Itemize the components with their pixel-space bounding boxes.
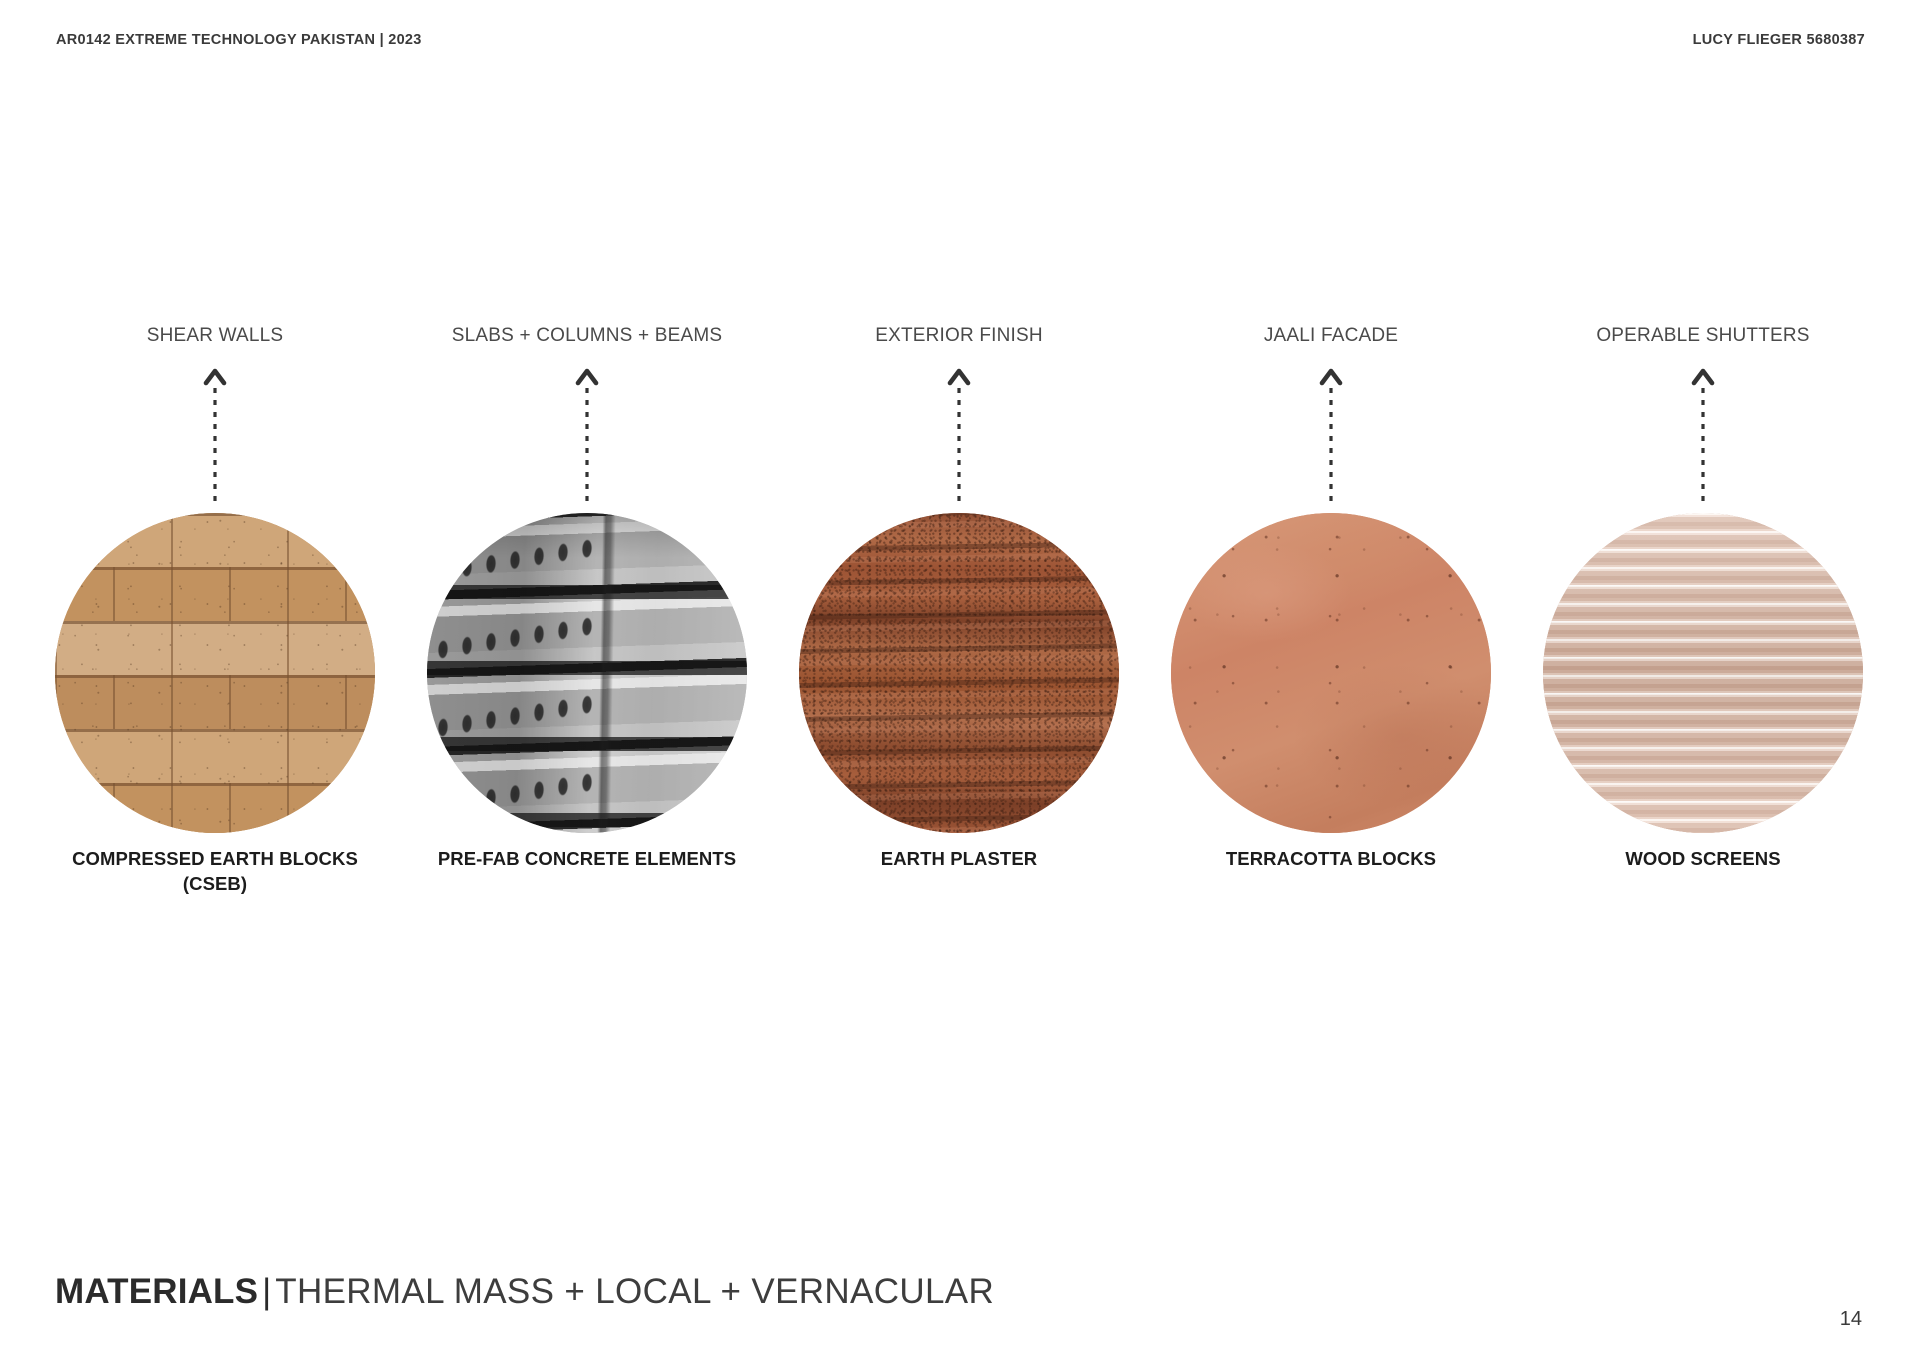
slide-header: AR0142 EXTREME TECHNOLOGY PAKISTAN | 202… [0, 32, 1920, 58]
material-name-line-1: WOOD SCREENS [1625, 848, 1780, 869]
material-item: OPERABLE SHUTTERS WOOD SCREENS [1523, 325, 1883, 905]
material-swatch [799, 513, 1119, 833]
page-title-separator: | [258, 1272, 275, 1311]
concrete-texture-swatch [427, 513, 747, 833]
material-item: JAALI FACADE TERRACOTTA BLOCKS [1151, 325, 1511, 905]
material-swatch [1171, 513, 1491, 833]
dashed-arrow-connector [1151, 363, 1511, 503]
material-name-line-1: PRE-FAB CONCRETE ELEMENTS [438, 848, 736, 869]
page-number: 14 [1840, 1308, 1862, 1331]
page-title-subtitle: THERMAL MASS + LOCAL + VERNACULAR [275, 1272, 994, 1311]
material-name-line-1: TERRACOTTA BLOCKS [1226, 848, 1436, 869]
material-function-label: OPERABLE SHUTTERS [1523, 325, 1883, 347]
material-caption: TERRACOTTA BLOCKS [1151, 847, 1511, 872]
material-function-label: SLABS + COLUMNS + BEAMS [407, 325, 767, 347]
material-swatch [427, 513, 747, 833]
material-item: SLABS + COLUMNS + BEAMS PRE-FAB CONCRETE… [407, 325, 767, 905]
material-swatch [1543, 513, 1863, 833]
dashed-arrow-connector [779, 363, 1139, 503]
page-title: MATERIALS|THERMAL MASS + LOCAL + VERNACU… [55, 1274, 994, 1309]
material-caption: PRE-FAB CONCRETE ELEMENTS [407, 847, 767, 872]
dashed-arrow-connector [407, 363, 767, 503]
material-function-label: SHEAR WALLS [35, 325, 395, 347]
materials-row: SHEAR WALLS COMPRESSED EARTH BLOCKS (CSE… [0, 325, 1920, 905]
material-item: EXTERIOR FINISH EARTH PLASTER [779, 325, 1139, 905]
earth-plaster-texture-swatch [799, 513, 1119, 833]
material-caption: COMPRESSED EARTH BLOCKS (CSEB) [35, 847, 395, 896]
dashed-arrow-connector [1523, 363, 1883, 503]
material-caption: WOOD SCREENS [1523, 847, 1883, 872]
material-function-label: EXTERIOR FINISH [779, 325, 1139, 347]
terracotta-texture-swatch [1171, 513, 1491, 833]
material-item: SHEAR WALLS COMPRESSED EARTH BLOCKS (CSE… [35, 325, 395, 905]
material-function-label: JAALI FACADE [1151, 325, 1511, 347]
page-title-bold: MATERIALS [55, 1272, 258, 1311]
material-caption: EARTH PLASTER [779, 847, 1139, 872]
material-name-line-1: EARTH PLASTER [881, 848, 1037, 869]
dashed-arrow-connector [35, 363, 395, 503]
material-swatch [55, 513, 375, 833]
header-author-label: LUCY FLIEGER 5680387 [1693, 32, 1865, 48]
header-course-label: AR0142 EXTREME TECHNOLOGY PAKISTAN | 202… [56, 32, 422, 48]
wood-screen-texture-swatch [1543, 513, 1863, 833]
material-name-line-2: (CSEB) [35, 872, 395, 897]
material-name-line-1: COMPRESSED EARTH BLOCKS [72, 848, 358, 869]
brick-texture-swatch [55, 513, 375, 833]
